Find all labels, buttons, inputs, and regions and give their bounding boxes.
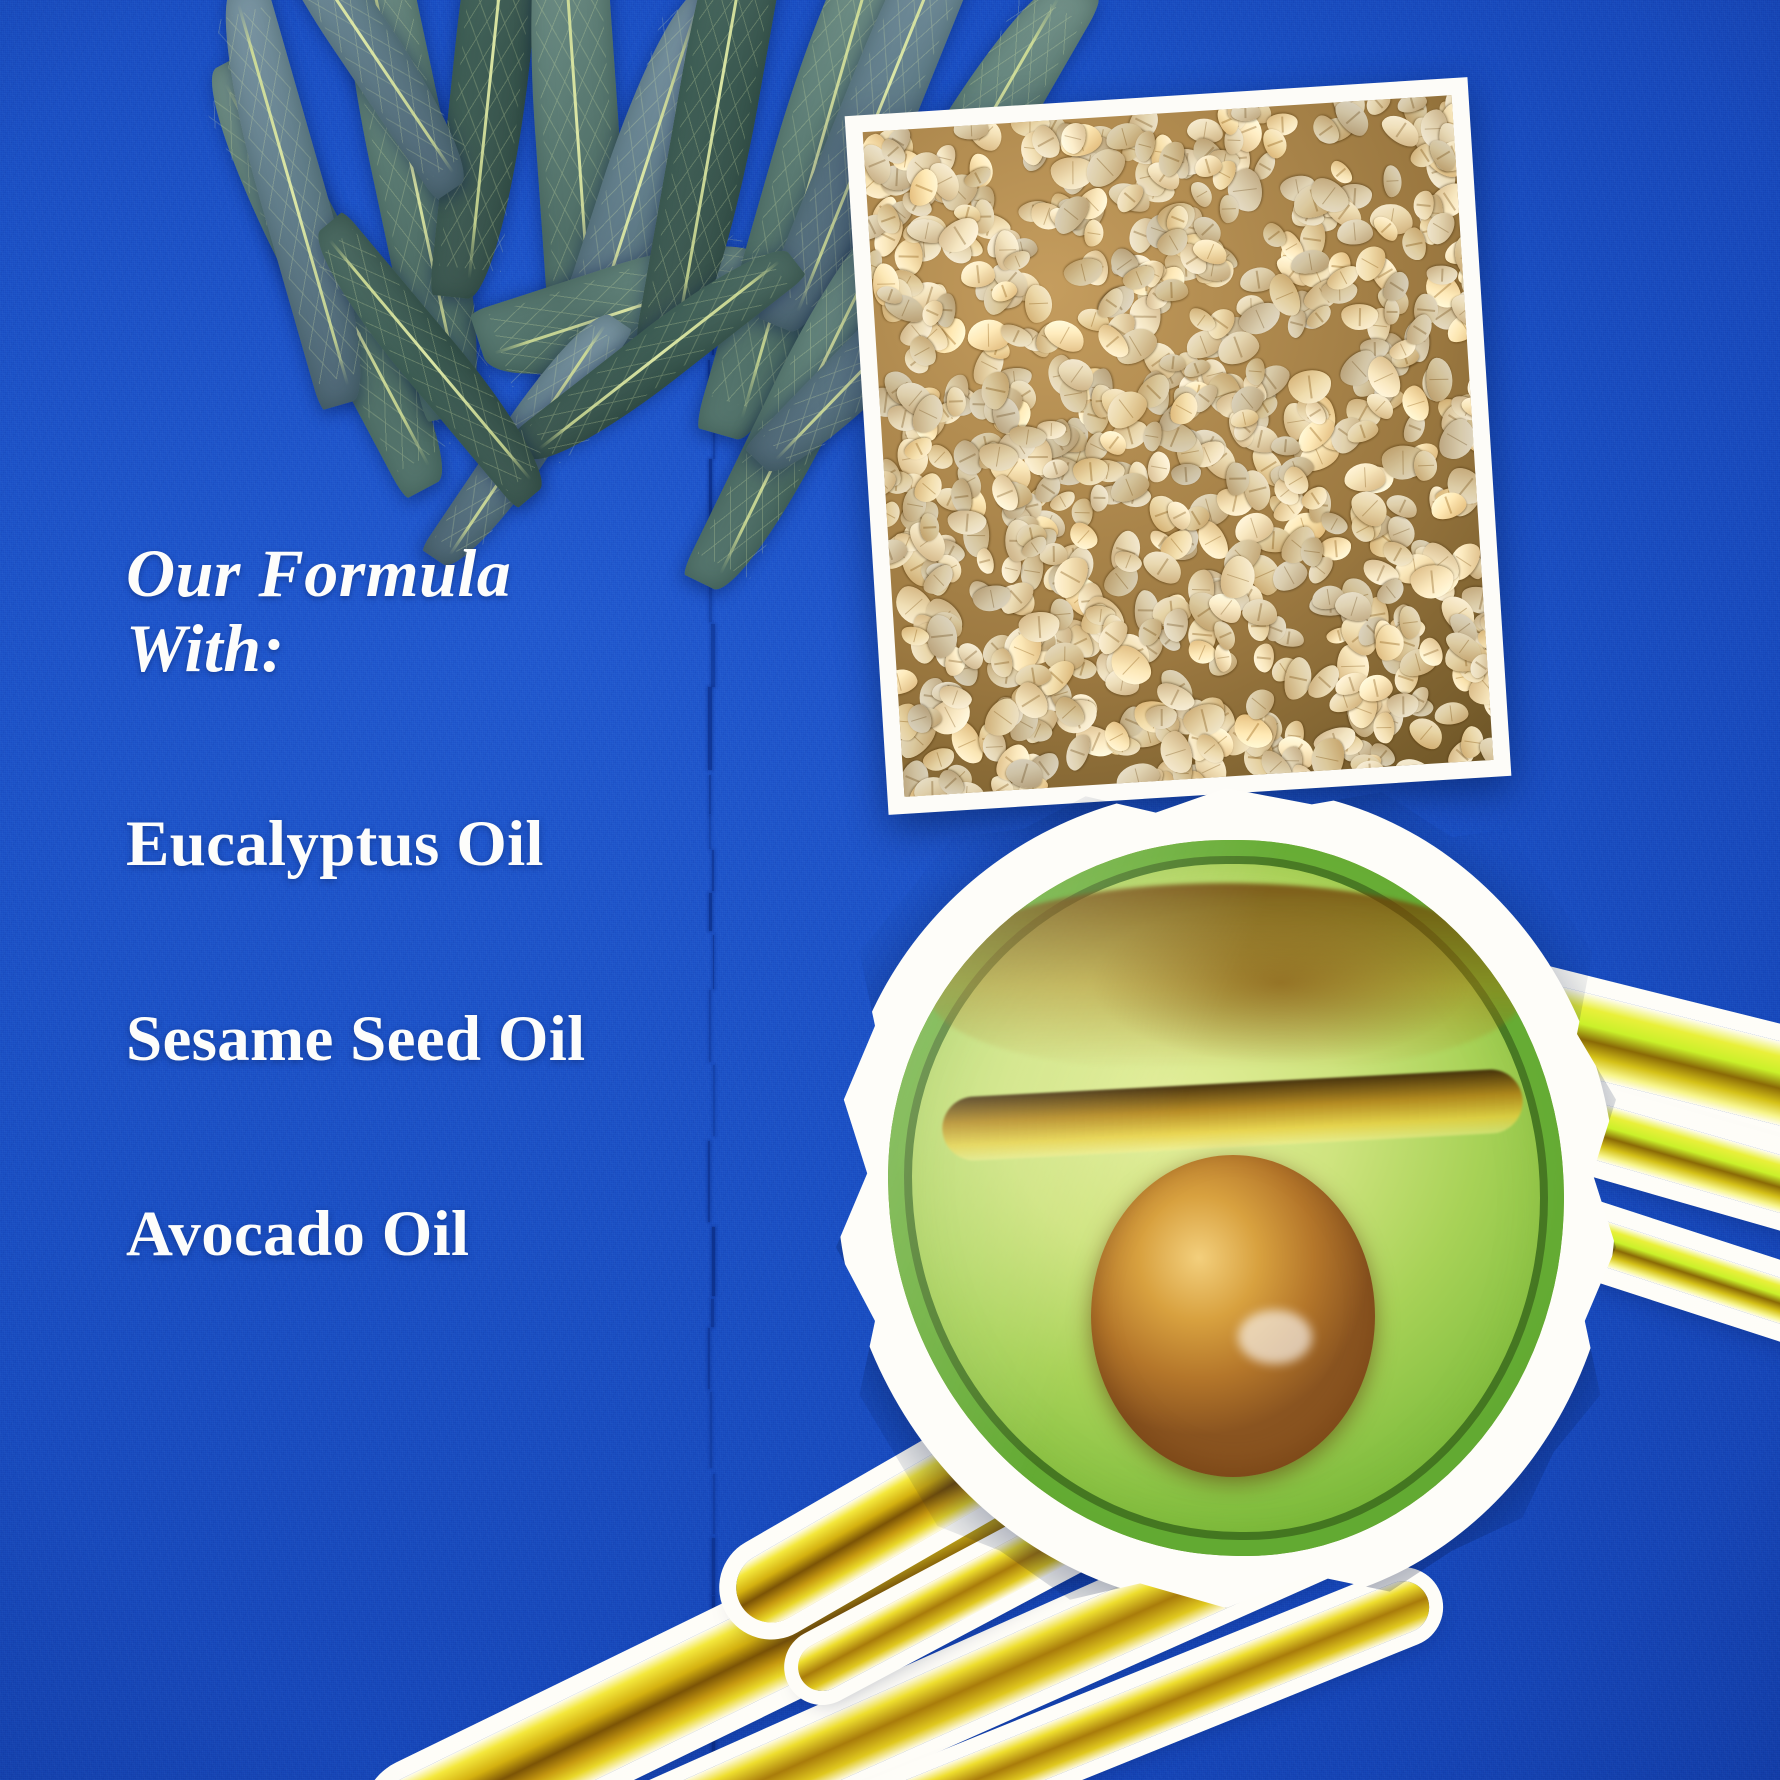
headline: Our Formula With: (126, 536, 746, 686)
ingredient-item-sesame-seed-oil: Sesame Seed Oil (126, 1007, 826, 1072)
formula-ingredient-card: Our Formula With: Eucalyptus Oil Sesame … (0, 0, 1780, 1780)
ingredient-item-avocado-oil: Avocado Oil (126, 1202, 826, 1267)
headline-line-1: Our Formula (126, 535, 511, 611)
ingredient-item-eucalyptus-oil: Eucalyptus Oil (126, 812, 826, 877)
ingredient-list: Eucalyptus Oil Sesame Seed Oil Avocado O… (126, 812, 826, 1267)
headline-line-2: With: (126, 611, 746, 686)
